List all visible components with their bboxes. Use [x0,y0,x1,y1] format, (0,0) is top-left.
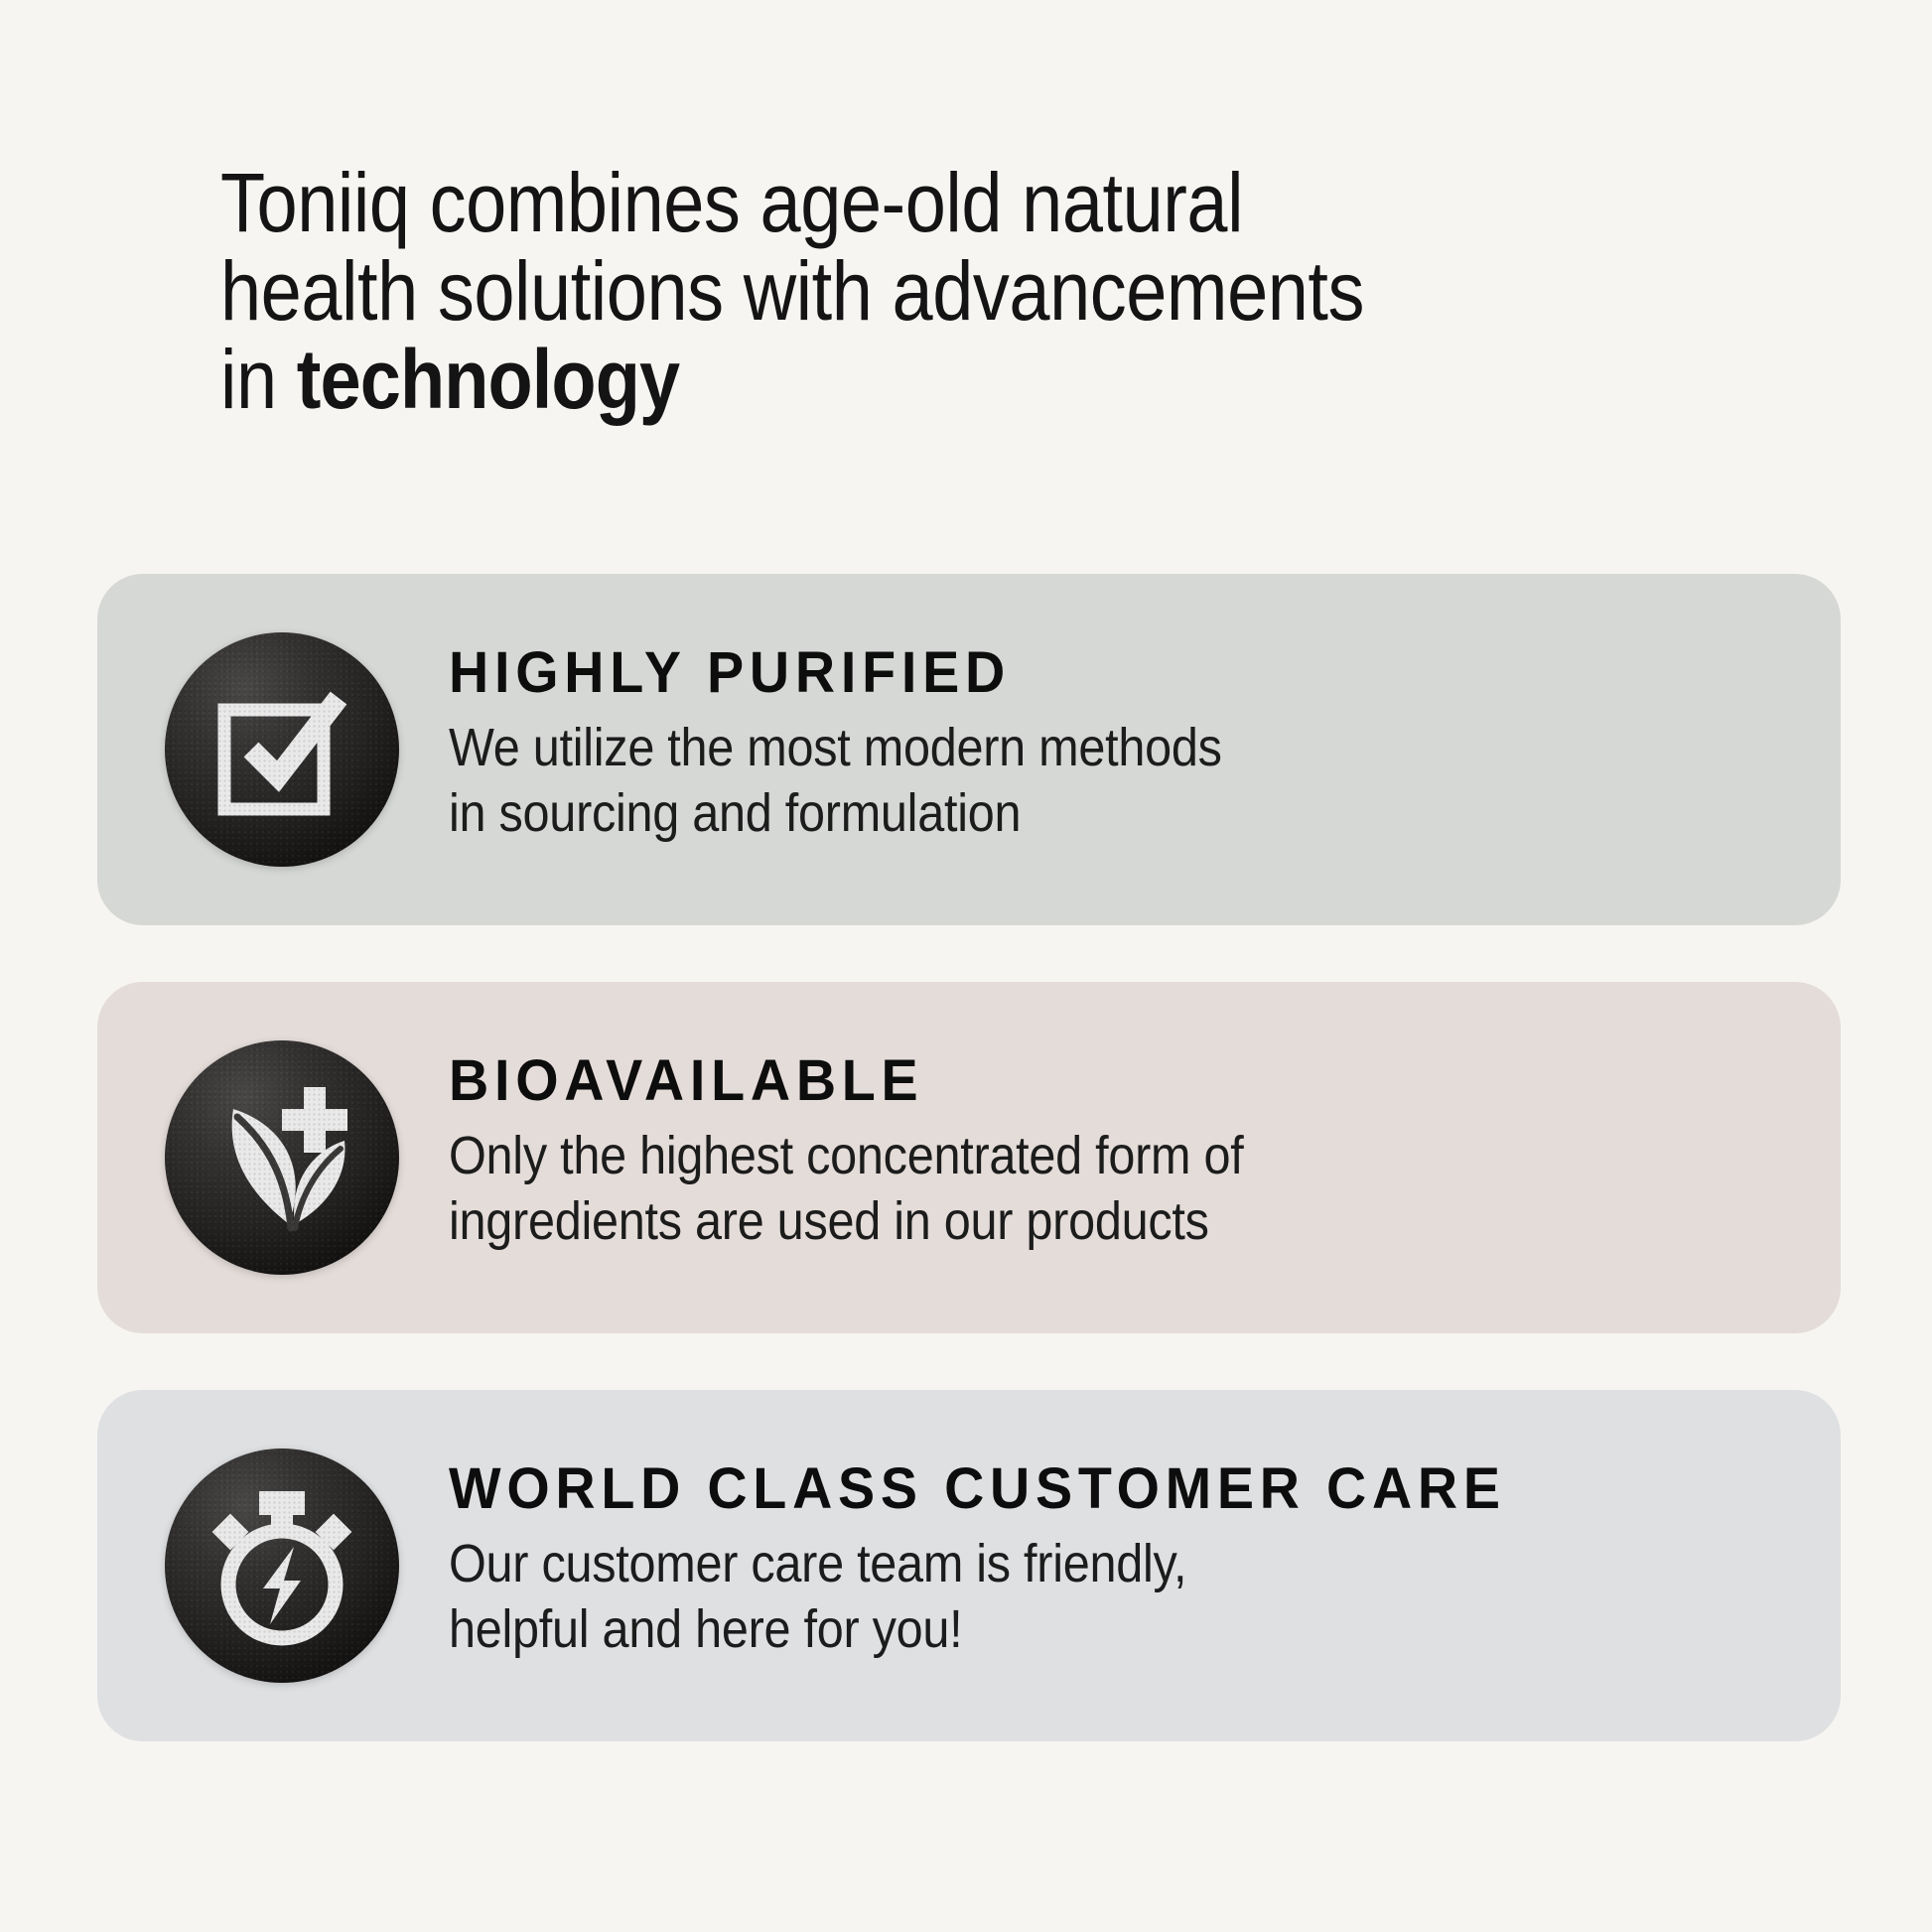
feature-card-description-line-2: in sourcing and formulation [449,781,1648,847]
page-title-line-3-prefix: in [220,333,297,426]
feature-card-title: BIOAVAILABLE [449,1052,1727,1110]
feature-card-description-line-1: Only the highest concentrated form of [449,1124,1648,1189]
feature-card-text: WORLD CLASS CUSTOMER CARE Our customer c… [449,1460,1841,1663]
feature-card-highly-purified[interactable]: HIGHLY PURIFIED We utilize the most mode… [97,574,1841,925]
stopwatch-bolt-icon [165,1449,399,1683]
feature-card-list: HIGHLY PURIFIED We utilize the most mode… [97,574,1841,1741]
page-title-line-2: health solutions with advancements [220,247,1461,336]
feature-card-title: WORLD CLASS CUSTOMER CARE [449,1460,1727,1518]
page-title-line-1: Toniiq combines age-old natural [220,159,1461,247]
feature-card-world-class-customer-care[interactable]: WORLD CLASS CUSTOMER CARE Our customer c… [97,1390,1841,1741]
feature-card-description-line-2: ingredients are used in our products [449,1189,1648,1255]
feature-card-description: Our customer care team is friendly, help… [449,1532,1648,1663]
feature-card-description-line-1: We utilize the most modern methods [449,716,1648,781]
feature-card-title: HIGHLY PURIFIED [449,644,1727,702]
page-title-emphasis: technology [297,333,679,426]
feature-card-description: We utilize the most modern methods in so… [449,716,1648,847]
feature-card-text: BIOAVAILABLE Only the highest concentrat… [449,1052,1841,1255]
leaf-plus-icon [165,1040,399,1275]
checkbox-check-icon [165,632,399,867]
feature-card-text: HIGHLY PURIFIED We utilize the most mode… [449,644,1841,847]
feature-card-description-line-2: helpful and here for you! [449,1597,1648,1663]
feature-card-description-line-1: Our customer care team is friendly, [449,1532,1648,1597]
feature-card-bioavailable[interactable]: BIOAVAILABLE Only the highest concentrat… [97,982,1841,1333]
page-title-line-3: in technology [220,336,1461,424]
infographic-page: Toniiq combines age-old natural health s… [0,0,1932,1932]
feature-card-description: Only the highest concentrated form of in… [449,1124,1648,1255]
page-title: Toniiq combines age-old natural health s… [220,159,1461,424]
